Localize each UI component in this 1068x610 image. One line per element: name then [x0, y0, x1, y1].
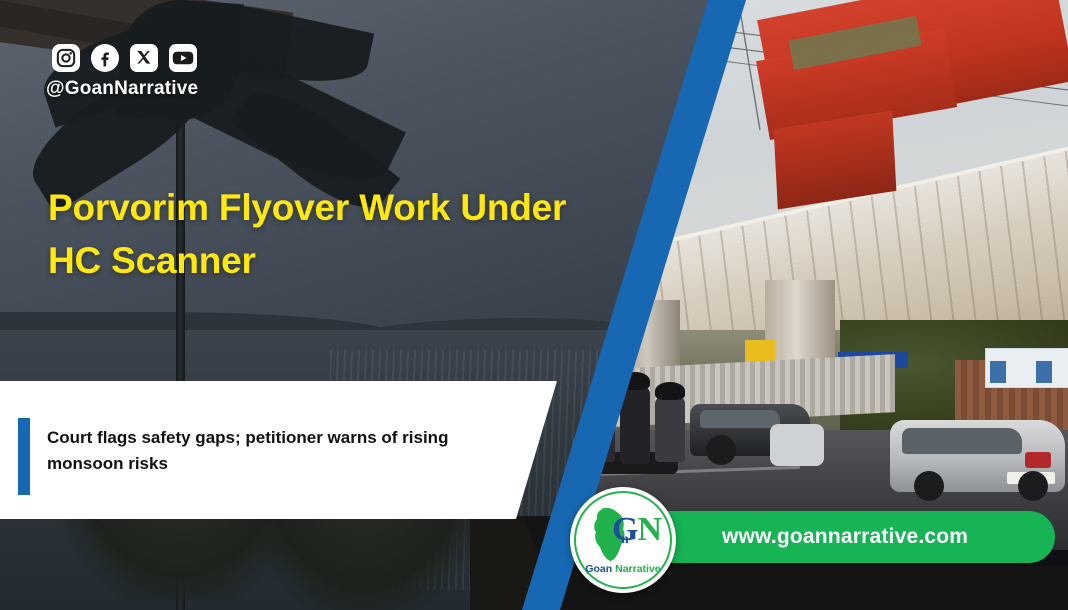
- logo-wordmark: Goan Narrative: [570, 563, 676, 575]
- news-graphic-card: @GoanNarrative Porvorim Flyover Work Und…: [0, 0, 1068, 610]
- headline: Porvorim Flyover Work Under HC Scanner: [48, 182, 608, 287]
- brand-logo[interactable]: GN n Goan Narrative: [570, 487, 676, 593]
- tail-light: [1025, 452, 1051, 468]
- roadside-billboard: [985, 348, 1068, 388]
- wheel: [914, 471, 944, 501]
- billboard-portrait-left: [990, 361, 1006, 383]
- logo-wordmark-second: Narrative: [615, 563, 661, 575]
- wheel: [1018, 471, 1048, 501]
- website-url: www.goannarrative.com: [722, 525, 968, 549]
- car-window: [902, 428, 1022, 454]
- youtube-icon[interactable]: [169, 44, 197, 72]
- x-icon[interactable]: [130, 44, 158, 72]
- logo-monogram: GN n: [612, 513, 661, 547]
- rider: [655, 396, 685, 462]
- logo-monogram-sub: n: [621, 533, 628, 547]
- scooter: [770, 424, 824, 466]
- website-url-pill[interactable]: www.goannarrative.com: [618, 511, 1055, 563]
- car-window: [700, 410, 780, 428]
- facebook-icon[interactable]: [91, 44, 119, 72]
- social-links: [52, 44, 197, 72]
- billboard-portrait-right: [1036, 361, 1052, 383]
- wheel: [706, 435, 736, 465]
- logo-wordmark-first: Goan: [585, 563, 612, 575]
- subtitle-accent-bar: [18, 418, 30, 495]
- social-handle: @GoanNarrative: [46, 78, 198, 100]
- helmet: [655, 382, 685, 400]
- logo-monogram-n: N: [637, 511, 661, 548]
- instagram-icon[interactable]: [52, 44, 80, 72]
- silver-suv: [890, 420, 1065, 492]
- subtitle-text: Court flags safety gaps; petitioner warn…: [47, 425, 517, 477]
